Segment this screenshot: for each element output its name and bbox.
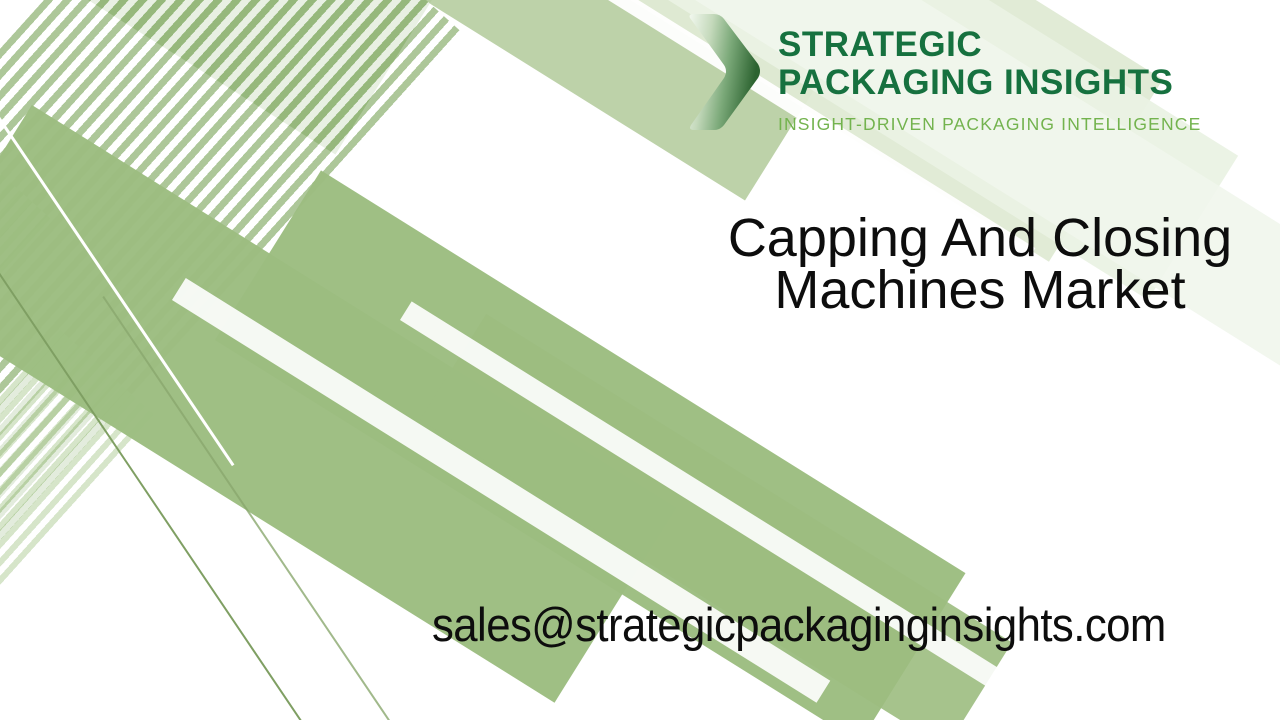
company-logo: STRATEGIC PACKAGING INSIGHTS INSIGHT-DRI… bbox=[686, 12, 1191, 134]
ribbon-stripes-low bbox=[0, 330, 157, 720]
page-title: Capping And Closing Machines Market bbox=[610, 212, 1280, 316]
ribbon-stripes-mid bbox=[0, 110, 53, 720]
report-cover-slide: STRATEGIC PACKAGING INSIGHTS INSIGHT-DRI… bbox=[0, 0, 1280, 720]
band-pale-top-left bbox=[0, 0, 675, 155]
hairline-white bbox=[0, 108, 234, 466]
logo-tagline: INSIGHT-DRIVEN PACKAGING INTELLIGENCE bbox=[778, 114, 1201, 135]
hairline-long bbox=[0, 258, 493, 720]
logo-line-1: STRATEGIC bbox=[778, 26, 1201, 64]
chevron-arrow-mark bbox=[686, 12, 762, 132]
hairline-secondary bbox=[102, 296, 495, 720]
contact-email[interactable]: sales@strategicpackaginginsights.com bbox=[432, 597, 1166, 653]
sliver-white-c bbox=[400, 301, 1073, 720]
band-green-lower-c bbox=[420, 314, 1012, 720]
logo-wordmark: STRATEGIC PACKAGING INSIGHTS INSIGHT-DRI… bbox=[778, 12, 1201, 135]
ribbon-stripes-top bbox=[0, 0, 460, 720]
logo-line-2: PACKAGING INSIGHTS bbox=[778, 64, 1201, 102]
